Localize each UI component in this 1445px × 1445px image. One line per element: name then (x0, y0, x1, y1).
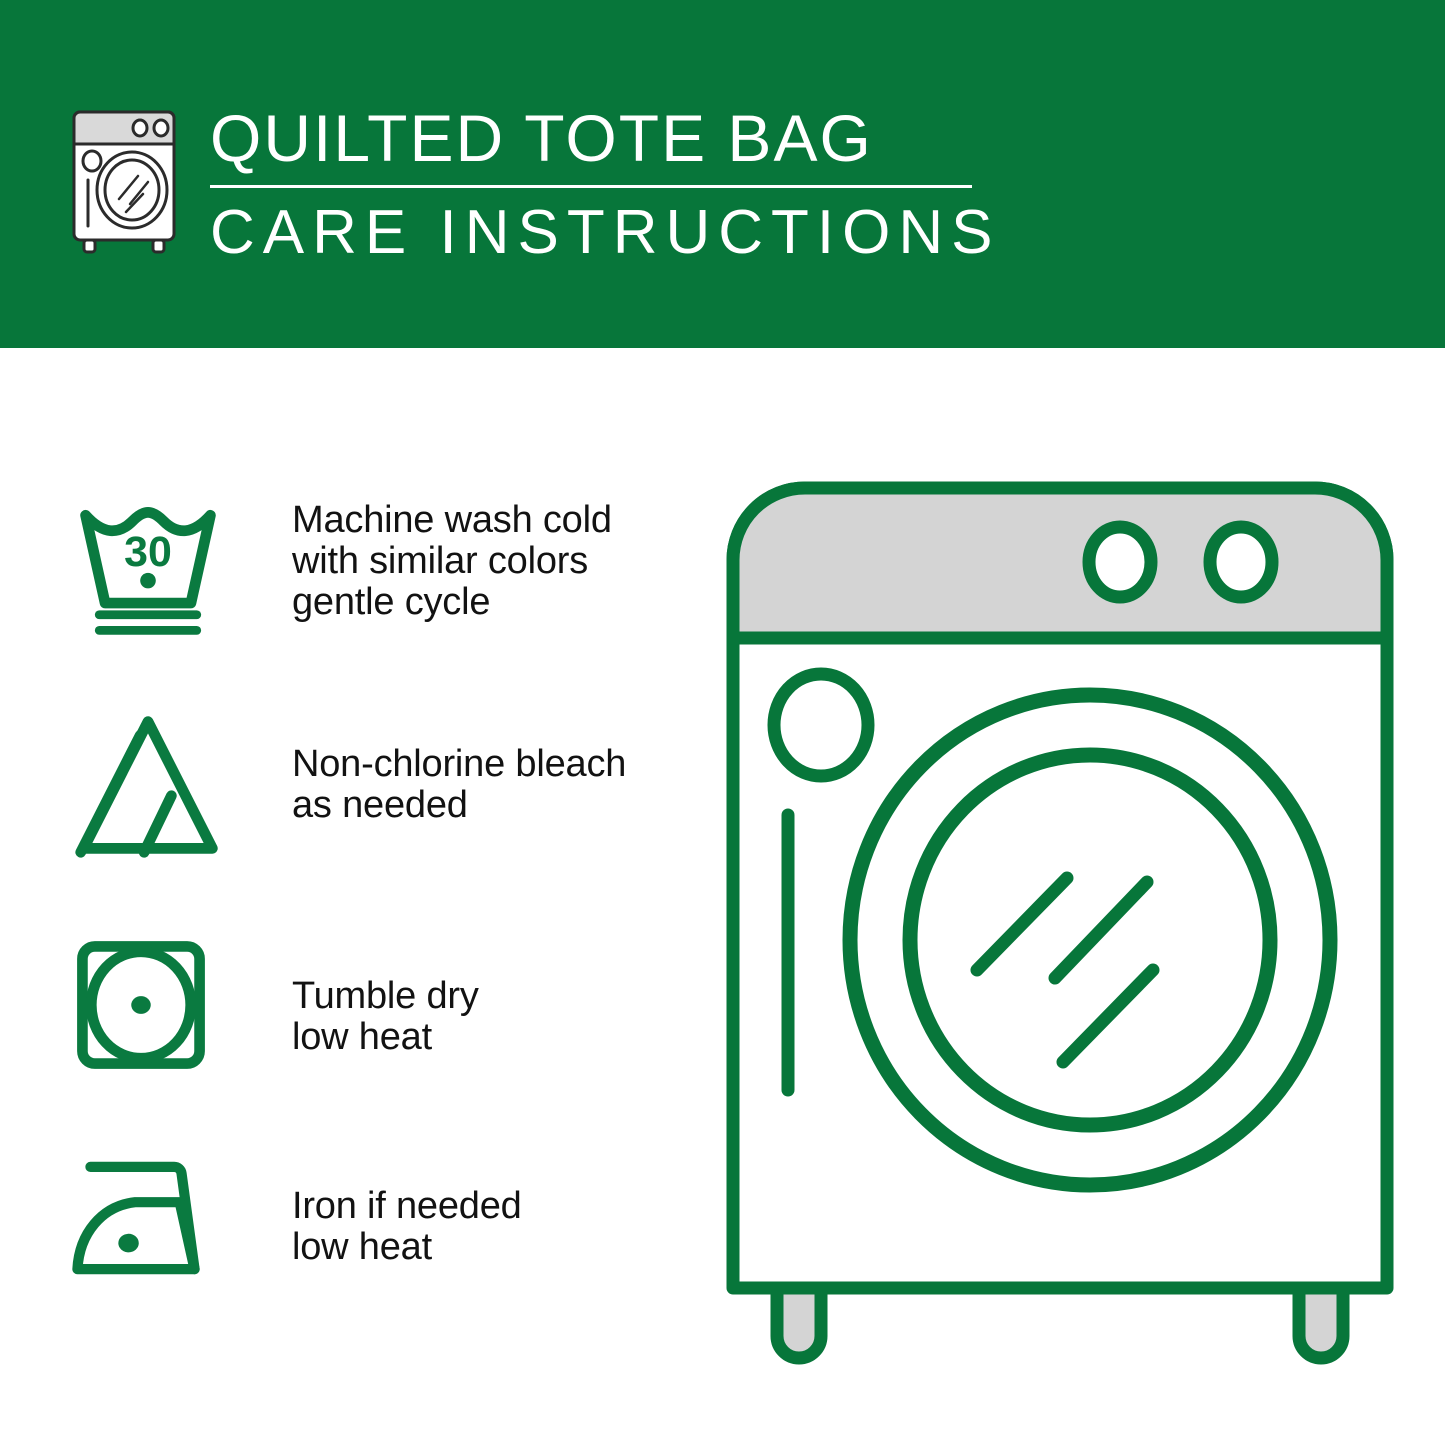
care-instructions-card: QUILTED TOTE BAG CARE INSTRUCTIONS 30 (0, 0, 1445, 1445)
washer-knob-left (1089, 527, 1151, 597)
iron-low-heat-icon (70, 1148, 230, 1288)
care-row-tumble-dry: Tumble dry low heat (70, 934, 690, 1076)
detergent-knob (774, 674, 868, 776)
header-text-block: QUILTED TOTE BAG CARE INSTRUCTIONS (210, 100, 1000, 269)
care-row-bleach: Non-chlorine bleach as needed (70, 706, 690, 862)
page-subtitle: CARE INSTRUCTIONS (210, 197, 1000, 269)
machine-wash-30-gentle-icon: 30 (70, 488, 230, 644)
wash-temperature-label: 30 (124, 528, 172, 576)
washer-leg-left (777, 1288, 821, 1358)
care-text-machine-wash: Machine wash cold with similar colors ge… (292, 488, 612, 623)
title-divider (210, 185, 972, 188)
care-row-machine-wash: 30 Machine wash cold with similar colors… (70, 488, 690, 644)
care-text-iron: Iron if needed low heat (292, 1148, 522, 1268)
front-load-washing-machine-illustration (715, 470, 1405, 1370)
tumble-dry-low-heat-icon (70, 934, 230, 1076)
washer-leg-right (1299, 1288, 1343, 1358)
care-row-iron: Iron if needed low heat (70, 1148, 690, 1288)
washing-machine-icon (62, 104, 186, 254)
washer-knob-right (1210, 527, 1272, 597)
care-instruction-list: 30 Machine wash cold with similar colors… (0, 348, 700, 1445)
care-text-tumble-dry: Tumble dry low heat (292, 934, 479, 1058)
non-chlorine-bleach-triangle-icon (70, 706, 230, 862)
care-text-bleach: Non-chlorine bleach as needed (292, 706, 626, 826)
header-banner: QUILTED TOTE BAG CARE INSTRUCTIONS (0, 0, 1445, 348)
page-title: QUILTED TOTE BAG (210, 100, 1000, 176)
